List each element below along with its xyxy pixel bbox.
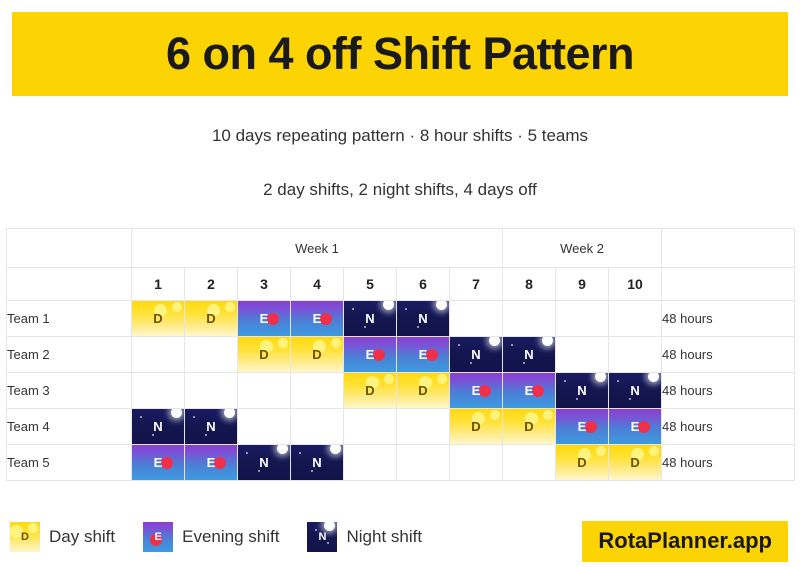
moon-icon xyxy=(383,301,394,310)
shift-code: N xyxy=(259,456,268,469)
shift-cell-day-8[interactable] xyxy=(503,445,556,481)
star-icon xyxy=(327,542,329,544)
day-shift-tile[interactable]: D xyxy=(609,445,661,480)
shift-cell-day-5[interactable]: N xyxy=(344,301,397,337)
table-row: Team 3DDEENN48 hours xyxy=(7,373,795,409)
legend-item-night: NNight shift xyxy=(307,522,422,552)
star-icon xyxy=(511,344,513,346)
shift-cell-day-4[interactable]: D xyxy=(291,337,344,373)
shift-cell-day-8[interactable]: D xyxy=(503,409,556,445)
shift-cell-day-6[interactable]: D xyxy=(397,373,450,409)
week-header-week-1: Week 1 xyxy=(132,229,503,268)
moon-icon xyxy=(436,301,447,310)
shift-cell-day-2[interactable]: E xyxy=(185,445,238,481)
shift-cell-day-7[interactable]: D xyxy=(450,409,503,445)
day-header-1: 1 xyxy=(132,268,185,301)
shift-code: E xyxy=(207,456,216,469)
weekly-hours-label: 48 hours xyxy=(662,337,795,373)
star-icon xyxy=(417,326,419,328)
shift-code: N xyxy=(418,312,427,325)
day-header-2: 2 xyxy=(185,268,238,301)
day-header-8: 8 xyxy=(503,268,556,301)
night-shift-tile[interactable]: N xyxy=(397,301,449,336)
brand-label: RotaPlanner.app xyxy=(598,528,772,554)
evening-shift-tile[interactable]: E xyxy=(132,445,184,480)
subtitle-secondary: 2 day shifts, 2 night shifts, 4 days off xyxy=(0,180,800,200)
moon-icon xyxy=(542,337,553,346)
table-head: Week 1 Week 2 1 2 3 4 5 6 7 8 9 10 xyxy=(7,229,795,301)
day-shift-tile[interactable]: D xyxy=(344,373,396,408)
shift-cell-day-3[interactable]: E xyxy=(238,301,291,337)
team-label: Team 3 xyxy=(7,373,132,409)
shift-cell-day-1[interactable] xyxy=(132,373,185,409)
empty-shift-tile xyxy=(185,373,237,408)
evening-shift-tile[interactable]: E xyxy=(291,301,343,336)
corner-cell-hours xyxy=(662,229,795,268)
week-header-week-2: Week 2 xyxy=(503,229,662,268)
empty-shift-tile xyxy=(291,373,343,408)
shift-cell-day-3[interactable] xyxy=(238,409,291,445)
empty-shift-tile xyxy=(397,445,449,480)
star-icon xyxy=(523,362,525,364)
star-icon xyxy=(140,416,142,418)
team-label: Team 4 xyxy=(7,409,132,445)
shift-cell-day-1[interactable]: E xyxy=(132,445,185,481)
weekly-hours-label: 48 hours xyxy=(662,409,795,445)
sun-glow-icon xyxy=(225,302,235,312)
shift-code: D xyxy=(365,384,374,397)
team-column-header xyxy=(7,268,132,301)
shift-code: N xyxy=(365,312,374,325)
shift-cell-day-5[interactable]: E xyxy=(344,337,397,373)
evening-shift-tile[interactable]: E xyxy=(450,373,502,408)
title-banner: 6 on 4 off Shift Pattern xyxy=(12,12,788,96)
shift-cell-day-1[interactable] xyxy=(132,337,185,373)
sunset-icon xyxy=(638,421,650,433)
empty-shift-tile xyxy=(344,409,396,444)
shift-cell-day-8[interactable]: N xyxy=(503,337,556,373)
shift-code: N xyxy=(153,420,162,433)
shift-code: D xyxy=(524,420,533,433)
sun-glow-icon xyxy=(543,410,553,420)
day-header-9: 9 xyxy=(556,268,609,301)
shift-cell-day-4[interactable] xyxy=(291,373,344,409)
shift-cell-day-10[interactable]: E xyxy=(609,409,662,445)
shift-cell-day-6[interactable] xyxy=(397,409,450,445)
sunset-icon xyxy=(320,313,332,325)
sun-glow-icon xyxy=(437,374,447,384)
shift-cell-day-9[interactable] xyxy=(556,337,609,373)
shift-cell-day-1[interactable]: D xyxy=(132,301,185,337)
shift-cell-day-10[interactable] xyxy=(609,337,662,373)
night-shift-tile[interactable]: N xyxy=(450,337,502,372)
shift-code: N xyxy=(524,348,533,361)
day-header-10: 10 xyxy=(609,268,662,301)
shift-code: D xyxy=(630,456,639,469)
shift-code: E xyxy=(366,348,375,361)
shift-cell-day-3[interactable]: N xyxy=(238,445,291,481)
moon-icon xyxy=(277,445,288,454)
weekly-hours-label: 48 hours xyxy=(662,373,795,409)
legend-swatch-night: N xyxy=(307,522,337,552)
hours-column-header xyxy=(662,268,795,301)
empty-shift-tile xyxy=(291,409,343,444)
evening-shift-tile[interactable]: E xyxy=(238,301,290,336)
night-shift-tile[interactable]: N xyxy=(609,373,661,408)
table-row: Team 4NNDDEE48 hours xyxy=(7,409,795,445)
moon-icon xyxy=(324,522,335,531)
team-label: Team 5 xyxy=(7,445,132,481)
shift-code: E xyxy=(154,532,161,543)
moon-icon xyxy=(171,409,182,418)
shift-code: N xyxy=(471,348,480,361)
shift-code: E xyxy=(525,384,534,397)
shift-cell-day-5[interactable] xyxy=(344,445,397,481)
sun-glow-icon xyxy=(384,374,394,384)
star-icon xyxy=(152,434,154,436)
shift-code: D xyxy=(577,456,586,469)
shift-cell-day-4[interactable]: E xyxy=(291,301,344,337)
star-icon xyxy=(629,398,631,400)
shift-code: N xyxy=(312,456,321,469)
shift-code: N xyxy=(206,420,215,433)
team-label: Team 1 xyxy=(7,301,132,337)
sun-glow-icon xyxy=(331,338,341,348)
shift-code: N xyxy=(319,532,327,543)
empty-shift-tile xyxy=(344,445,396,480)
shift-code: E xyxy=(313,312,322,325)
empty-shift-tile xyxy=(450,445,502,480)
shift-pattern-infographic: 6 on 4 off Shift Pattern 10 days repeati… xyxy=(0,0,800,567)
day-shift-tile[interactable]: D xyxy=(132,301,184,336)
empty-shift-tile xyxy=(450,301,502,336)
evening-shift-tile[interactable]: E xyxy=(556,409,608,444)
day-shift-tile[interactable]: D xyxy=(556,445,608,480)
day-shift-tile[interactable]: D xyxy=(238,337,290,372)
star-icon xyxy=(617,380,619,382)
star-icon xyxy=(246,452,248,454)
sun-glow-icon xyxy=(596,446,606,456)
star-icon xyxy=(564,380,566,382)
shift-code: E xyxy=(260,312,269,325)
shift-cell-day-6[interactable]: N xyxy=(397,301,450,337)
legend-swatch-day: D xyxy=(10,522,40,552)
shift-cell-day-6[interactable]: E xyxy=(397,337,450,373)
shift-cell-day-2[interactable]: D xyxy=(185,301,238,337)
empty-shift-tile xyxy=(132,337,184,372)
star-icon xyxy=(405,308,407,310)
empty-shift-tile xyxy=(503,445,555,480)
brand-badge[interactable]: RotaPlanner.app xyxy=(582,521,788,562)
shift-code: E xyxy=(578,420,587,433)
shift-cell-day-10[interactable]: N xyxy=(609,373,662,409)
day-header-3: 3 xyxy=(238,268,291,301)
weekly-hours-label: 48 hours xyxy=(662,445,795,481)
shift-cell-day-4[interactable] xyxy=(291,409,344,445)
moon-icon xyxy=(595,373,606,382)
team-label: Team 2 xyxy=(7,337,132,373)
shift-cell-day-7[interactable]: N xyxy=(450,337,503,373)
sunset-icon xyxy=(373,349,385,361)
day-number-row: 1 2 3 4 5 6 7 8 9 10 xyxy=(7,268,795,301)
shift-cell-day-3[interactable]: D xyxy=(238,337,291,373)
night-shift-tile[interactable]: N xyxy=(556,373,608,408)
legend-item-day: DDay shift xyxy=(10,522,115,552)
day-shift-tile[interactable]: D xyxy=(450,409,502,444)
moon-icon xyxy=(330,445,341,454)
sunset-icon xyxy=(532,385,544,397)
day-header-4: 4 xyxy=(291,268,344,301)
star-icon xyxy=(352,308,354,310)
shift-cell-day-10[interactable] xyxy=(609,301,662,337)
evening-shift-tile[interactable]: E xyxy=(397,337,449,372)
empty-shift-tile xyxy=(609,301,661,336)
shift-cell-day-6[interactable] xyxy=(397,445,450,481)
empty-shift-tile xyxy=(132,373,184,408)
shift-cell-day-3[interactable] xyxy=(238,373,291,409)
sun-glow-icon xyxy=(172,302,182,312)
night-shift-tile[interactable]: N xyxy=(132,409,184,444)
shift-cell-day-10[interactable]: D xyxy=(609,445,662,481)
day-shift-tile[interactable]: D xyxy=(503,409,555,444)
sunset-icon xyxy=(214,457,226,469)
sun-glow-icon xyxy=(278,338,288,348)
shift-cell-day-2[interactable]: N xyxy=(185,409,238,445)
legend-swatch-evening: E xyxy=(143,522,173,552)
star-icon xyxy=(205,434,207,436)
shift-cell-day-9[interactable] xyxy=(556,301,609,337)
shift-cell-day-7[interactable] xyxy=(450,301,503,337)
shift-cell-day-8[interactable] xyxy=(503,301,556,337)
shift-cell-day-5[interactable] xyxy=(344,409,397,445)
shift-cell-day-9[interactable]: E xyxy=(556,409,609,445)
shift-cell-day-2[interactable] xyxy=(185,337,238,373)
shift-cell-day-5[interactable]: D xyxy=(344,373,397,409)
shift-code: D xyxy=(153,312,162,325)
empty-shift-tile xyxy=(397,409,449,444)
night-shift-tile[interactable]: N xyxy=(291,445,343,480)
shift-cell-day-9[interactable]: D xyxy=(556,445,609,481)
empty-shift-tile xyxy=(556,337,608,372)
day-shift-tile[interactable]: D xyxy=(185,301,237,336)
shift-code: D xyxy=(471,420,480,433)
shift-code: D xyxy=(21,532,29,543)
shift-code: D xyxy=(418,384,427,397)
star-icon xyxy=(364,326,366,328)
weekly-hours-label: 48 hours xyxy=(662,301,795,337)
table-row: Team 2DDEENN48 hours xyxy=(7,337,795,373)
evening-shift-tile[interactable]: E xyxy=(344,337,396,372)
star-icon xyxy=(193,416,195,418)
shift-pattern-table: Week 1 Week 2 1 2 3 4 5 6 7 8 9 10 Team … xyxy=(6,228,795,481)
shift-code: E xyxy=(472,384,481,397)
star-icon xyxy=(258,470,260,472)
shift-code: D xyxy=(206,312,215,325)
sun-glow-icon xyxy=(490,410,500,420)
evening-shift-tile[interactable]: E xyxy=(503,373,555,408)
table-row: Team 5EENNDD48 hours xyxy=(7,445,795,481)
shift-cell-day-7[interactable] xyxy=(450,445,503,481)
star-icon xyxy=(458,344,460,346)
empty-shift-tile xyxy=(609,337,661,372)
shift-cell-day-1[interactable]: N xyxy=(132,409,185,445)
night-shift-tile[interactable]: N xyxy=(503,337,555,372)
shift-cell-day-4[interactable]: N xyxy=(291,445,344,481)
shift-code: D xyxy=(312,348,321,361)
star-icon xyxy=(299,452,301,454)
shift-cell-day-2[interactable] xyxy=(185,373,238,409)
evening-shift-tile[interactable]: E xyxy=(185,445,237,480)
subtitle-primary: 10 days repeating pattern · 8 hour shift… xyxy=(0,126,800,146)
night-shift-tile[interactable]: N xyxy=(238,445,290,480)
day-header-5: 5 xyxy=(344,268,397,301)
star-icon xyxy=(311,470,313,472)
star-icon xyxy=(315,529,317,531)
day-header-6: 6 xyxy=(397,268,450,301)
day-shift-tile[interactable]: D xyxy=(397,373,449,408)
empty-shift-tile xyxy=(503,301,555,336)
moon-icon xyxy=(224,409,235,418)
table-row: Team 1DDEENN48 hours xyxy=(7,301,795,337)
star-icon xyxy=(576,398,578,400)
star-icon xyxy=(470,362,472,364)
night-shift-tile[interactable]: N xyxy=(344,301,396,336)
sunset-icon xyxy=(426,349,438,361)
week-header-row: Week 1 Week 2 xyxy=(7,229,795,268)
sunset-icon xyxy=(479,385,491,397)
empty-shift-tile xyxy=(238,409,290,444)
legend: DDay shiftEEvening shiftNNight shift xyxy=(10,522,436,552)
shift-code: N xyxy=(577,384,586,397)
evening-shift-tile[interactable]: E xyxy=(609,409,661,444)
page-title: 6 on 4 off Shift Pattern xyxy=(166,28,634,80)
shift-cell-day-7[interactable]: E xyxy=(450,373,503,409)
legend-label: Night shift xyxy=(346,527,422,547)
shift-cell-day-8[interactable]: E xyxy=(503,373,556,409)
corner-cell-weeks xyxy=(7,229,132,268)
shift-code: N xyxy=(630,384,639,397)
moon-icon xyxy=(489,337,500,346)
shift-code: D xyxy=(259,348,268,361)
sunset-icon xyxy=(267,313,279,325)
sun-glow-icon xyxy=(649,446,659,456)
day-header-7: 7 xyxy=(450,268,503,301)
sun-glow-icon xyxy=(28,523,38,533)
sunset-icon xyxy=(585,421,597,433)
legend-item-evening: EEvening shift xyxy=(143,522,279,552)
legend-label: Day shift xyxy=(49,527,115,547)
empty-shift-tile xyxy=(185,337,237,372)
night-shift-tile[interactable]: N xyxy=(185,409,237,444)
empty-shift-tile xyxy=(238,373,290,408)
shift-code: E xyxy=(419,348,428,361)
shift-code: E xyxy=(154,456,163,469)
empty-shift-tile xyxy=(556,301,608,336)
moon-icon xyxy=(648,373,659,382)
day-shift-tile[interactable]: D xyxy=(291,337,343,372)
table-body: Team 1DDEENN48 hoursTeam 2DDEENN48 hours… xyxy=(7,301,795,481)
shift-code: E xyxy=(631,420,640,433)
sunset-icon xyxy=(161,457,173,469)
legend-label: Evening shift xyxy=(182,527,279,547)
shift-cell-day-9[interactable]: N xyxy=(556,373,609,409)
